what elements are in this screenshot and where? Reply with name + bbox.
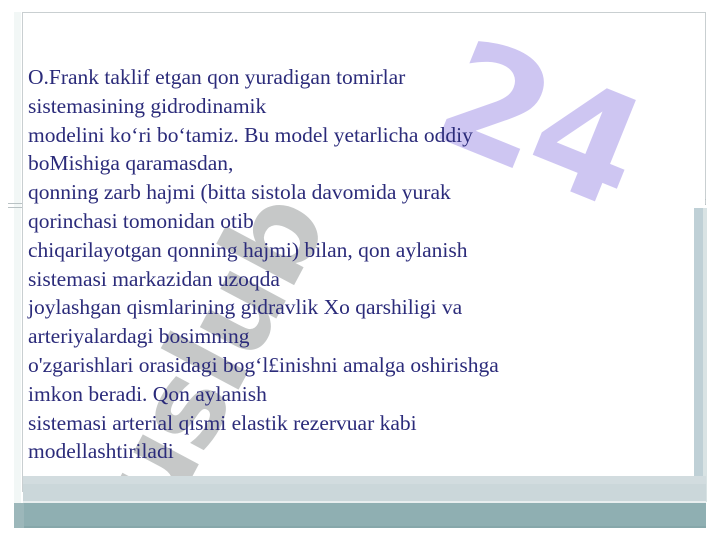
body-line: sistemasi markazidan uzoqda [28, 265, 678, 294]
body-line: arteriyalardagi bosimning [28, 322, 678, 351]
body-line: modelini ko‘ri bo‘tamiz. Bu model yetarl… [28, 121, 678, 150]
body-line: modellashtiriladi [28, 437, 678, 466]
body-line: imkon beradi. Qon aylanish [28, 380, 678, 409]
right-accent-bar-highlight [703, 208, 707, 502]
body-line: qorinchasi tomonidan otib [28, 207, 678, 236]
slide-body-textbox[interactable]: O.Frank taklif etgan qon yuradigan tomir… [28, 63, 678, 466]
body-line: qonning zarb hajmi (bitta sistola davomi… [28, 178, 678, 207]
slide-left-edge-strip [14, 12, 21, 504]
presentation-slide: 24 uslub O.Frank taklif etgan qon yuradi… [0, 0, 720, 540]
slide-frame-right [705, 12, 706, 204]
slide-content-area: 24 uslub O.Frank taklif etgan qon yuradi… [23, 13, 705, 476]
body-line: chiqarilayotgan qonning hajmi) bilan, qo… [28, 236, 678, 265]
footer-band-dark-shadow [23, 526, 706, 528]
body-line: sistemasining gidrodinamik [28, 92, 678, 121]
body-line: O.Frank taklif etgan qon yuradigan tomir… [28, 63, 678, 92]
footer-band-left-cap [14, 503, 24, 528]
body-line: joylashgan qismlarining gidravlik Xo qar… [28, 293, 678, 322]
left-rail-tick [8, 203, 22, 204]
left-rail-tick [8, 207, 22, 208]
footer-band-light-highlight [23, 476, 706, 484]
body-line: o'zgarishlari orasidagi bog‘l£inishni am… [28, 351, 678, 380]
body-line: boMishiga qaramasdan, [28, 149, 678, 178]
body-line: sistemasi arterial qismi elastik rezervu… [28, 409, 678, 438]
footer-band-dark [23, 503, 706, 528]
